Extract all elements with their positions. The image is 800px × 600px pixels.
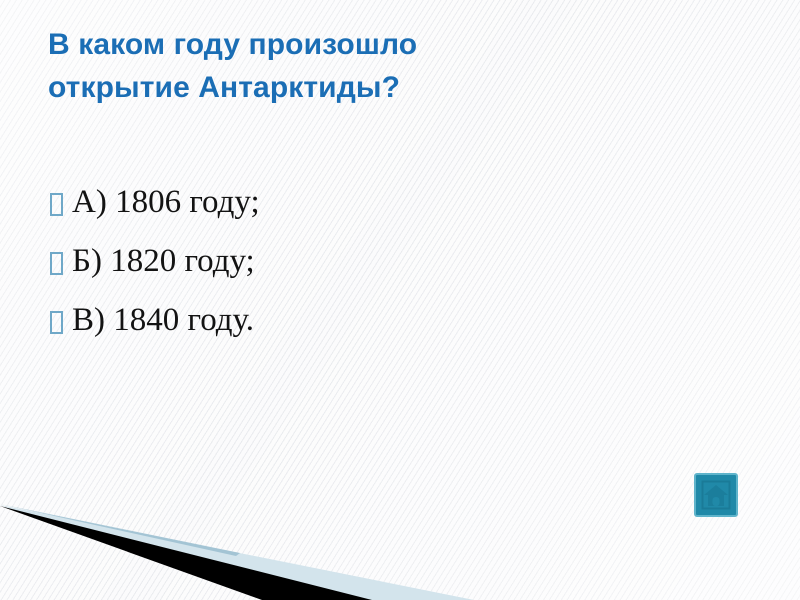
bullet-box-icon: [50, 311, 63, 334]
slide-canvas: В каком году произошло открытие Антаркти…: [0, 0, 800, 600]
bullet-box-icon: [50, 252, 63, 275]
page-title: В каком году произошло открытие Антаркти…: [48, 24, 688, 109]
list-item[interactable]: А) 1806 году;: [50, 186, 710, 245]
answer-options-list: А) 1806 году; Б) 1820 году; В) 1840 году…: [50, 186, 710, 363]
list-item[interactable]: Б) 1820 году;: [50, 245, 710, 304]
list-item[interactable]: В) 1840 году.: [50, 304, 710, 363]
home-button[interactable]: [694, 473, 738, 517]
answer-option-label: В) 1840 году.: [72, 304, 254, 337]
home-icon: [701, 480, 731, 510]
answer-option-label: Б) 1820 году;: [72, 245, 255, 278]
decoration-black-wedge: [0, 506, 372, 600]
answer-option-label: А) 1806 году;: [72, 186, 260, 219]
decoration-blue-wedge: [0, 505, 474, 600]
decoration-hairline: [0, 504, 240, 556]
bullet-box-icon: [50, 193, 63, 216]
